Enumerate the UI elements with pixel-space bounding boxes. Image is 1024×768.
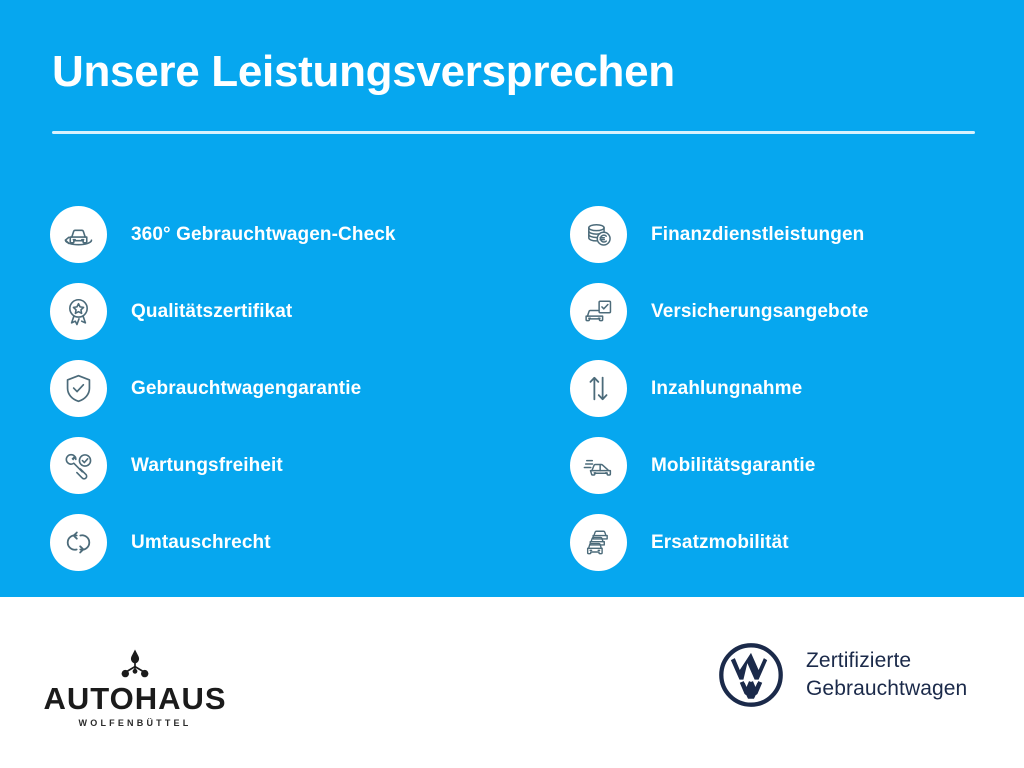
feature-column-left: 360° Gebrauchtwagen-Check Qualitätszerti… xyxy=(50,196,490,581)
dealer-city: WOLFENBÜTTEL xyxy=(79,719,192,728)
shield-check-icon xyxy=(50,360,107,417)
car-document-check-icon xyxy=(570,283,627,340)
feature-label: Ersatzmobilität xyxy=(651,532,789,554)
feature-column-right: Finanzdienstleistungen Versicherungsange… xyxy=(570,196,1010,581)
feature-label: Mobilitätsgarantie xyxy=(651,455,815,477)
feature-item-quality-certificate[interactable]: Qualitätszertifikat xyxy=(50,273,490,350)
feature-label: Umtauschrecht xyxy=(131,532,271,554)
promo-slide: Unsere Leistungsversprechen 360 xyxy=(0,0,1024,768)
feature-item-exchange-right[interactable]: Umtauschrecht xyxy=(50,504,490,581)
feature-label: Gebrauchtwagengarantie xyxy=(131,378,361,400)
vw-certified-text: Zertifizierte Gebrauchtwagen xyxy=(806,647,967,702)
feature-item-maintenance-free[interactable]: Wartungsfreiheit xyxy=(50,427,490,504)
car-360-check-icon xyxy=(50,206,107,263)
feature-label: Versicherungsangebote xyxy=(651,301,869,323)
volkswagen-logo-icon xyxy=(718,642,784,708)
feature-label: 360° Gebrauchtwagen-Check xyxy=(131,224,396,246)
feature-label: Finanzdienstleistungen xyxy=(651,224,864,246)
coins-euro-icon xyxy=(570,206,627,263)
hero-panel: Unsere Leistungsversprechen 360 xyxy=(0,0,1024,597)
feature-item-warranty[interactable]: Gebrauchtwagengarantie xyxy=(50,350,490,427)
exchange-arrows-icon xyxy=(50,514,107,571)
wrench-check-icon xyxy=(50,437,107,494)
two-cars-icon xyxy=(570,514,627,571)
arrows-up-down-icon xyxy=(570,360,627,417)
dealer-name: AUTOHAUS xyxy=(43,683,226,714)
footer: AUTOHAUS WOLFENBÜTTEL Zertifizierte Gebr… xyxy=(0,597,1024,768)
feature-item-financial-services[interactable]: Finanzdienstleistungen xyxy=(570,196,1010,273)
feature-label: Qualitätszertifikat xyxy=(131,301,292,323)
dealer-logo[interactable]: AUTOHAUS WOLFENBÜTTEL xyxy=(40,647,230,728)
quality-rosette-icon xyxy=(50,283,107,340)
vw-text-line2: Gebrauchtwagen xyxy=(806,675,967,703)
feature-item-insurance-offers[interactable]: Versicherungsangebote xyxy=(570,273,1010,350)
feature-item-mobility-guarantee[interactable]: Mobilitätsgarantie xyxy=(570,427,1010,504)
vw-certified-badge[interactable]: Zertifizierte Gebrauchtwagen xyxy=(718,642,967,708)
feature-label: Wartungsfreiheit xyxy=(131,455,283,477)
feature-item-360-check[interactable]: 360° Gebrauchtwagen-Check xyxy=(50,196,490,273)
feature-item-trade-in[interactable]: Inzahlungnahme xyxy=(570,350,1010,427)
feature-label: Inzahlungnahme xyxy=(651,378,802,400)
feature-item-replacement-mobility[interactable]: Ersatzmobilität xyxy=(570,504,1010,581)
vw-text-line1: Zertifizierte xyxy=(806,647,967,675)
car-motion-icon xyxy=(570,437,627,494)
page-title: Unsere Leistungsversprechen xyxy=(52,49,675,95)
title-divider xyxy=(52,131,975,134)
autohaus-emblem-icon xyxy=(115,647,155,681)
